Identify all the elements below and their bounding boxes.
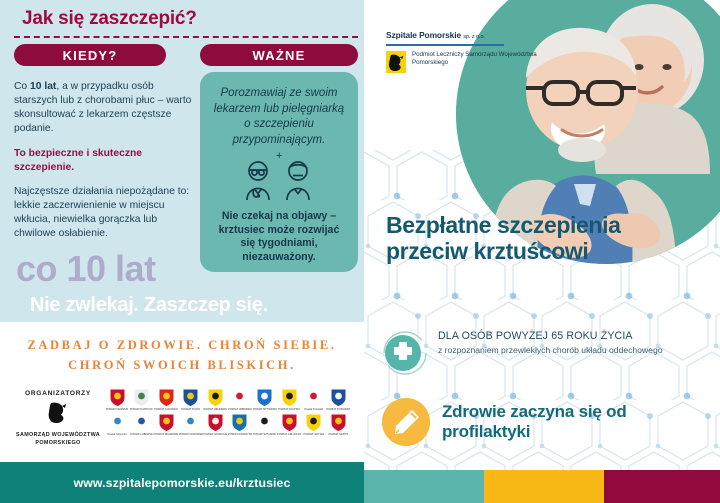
stripe-teal <box>364 470 484 503</box>
logo-caption: Podmiot Leczniczy Samorządu Województwa … <box>412 51 546 68</box>
crest-caption: POWIAT PUCKI <box>181 408 200 411</box>
crest-caption: POWIAT WEJHEROWSKI <box>203 408 227 411</box>
when-column: Co 10 lat, a w przypadku osób starszych … <box>14 80 192 252</box>
label-wazne: WAŻNE <box>200 44 358 66</box>
crest-shield-icon <box>158 388 175 407</box>
organizers-subtitle: SAMORZĄD WOJEWÓDZTWA POMORSKIEGO <box>12 432 104 447</box>
brochure-page: Jak się zaszczepić? KIEDY? WAŻNE Co 10 l… <box>0 0 720 503</box>
crest-caption: POWIAT NOWODWORSKI <box>179 433 203 436</box>
partner-crest: POWIAT STAROGARDZKI <box>204 413 226 436</box>
crest-caption: POWIAT STAROGARDZKI <box>203 433 227 436</box>
crest-caption: Powiat Sztumski <box>107 433 126 436</box>
crest-shield-icon <box>281 413 298 432</box>
prevention-slogan: Zdrowie zaczyna się od profilaktyki <box>442 402 712 442</box>
partner-crest: Powiat Sztumski <box>106 413 128 436</box>
warning-text: Nie czekaj na objawy – krztusiec może ro… <box>210 210 348 264</box>
crest-shield-icon <box>330 413 347 432</box>
stripe-yellow <box>484 470 604 503</box>
partner-crest: POWIAT SZTUMSKI <box>254 413 276 436</box>
prevention-slogan-row: Zdrowie zaczyna się od profilaktyki <box>382 398 712 446</box>
tagline-line-2: CHROŃ SWOICH BLISKICH. <box>0 358 364 373</box>
doctor-icon <box>247 162 269 200</box>
crest-shield-icon <box>330 388 347 407</box>
important-card: Porozmawiaj ze swoim lekarzem lub pielęg… <box>200 72 358 272</box>
stripe-maroon <box>604 470 720 503</box>
crest-shield-icon <box>207 413 224 432</box>
eligibility-detail: z rozpoznaniem przewlekłych chorób układ… <box>438 345 663 356</box>
medical-cross-icon <box>382 330 428 376</box>
organizers-title: ORGANIZATORZY <box>12 390 104 397</box>
crest-shield-icon <box>182 388 199 407</box>
website-url[interactable]: www.szpitalepomorskie.eu/krztusiec <box>74 476 291 490</box>
interval-paragraph: Co 10 lat, a w przypadku osób starszych … <box>14 80 192 136</box>
partner-crest: POWIAT CHOJNICKI <box>155 388 177 411</box>
organizers-block: ORGANIZATORZY SAMORZĄD WOJEWÓDZTWA POMOR… <box>12 390 104 447</box>
partner-crest: POWIAT GDYNIA <box>303 413 325 436</box>
call-to-action: Nie zwlekaj. Zaszczep się. <box>30 294 268 317</box>
crest-caption: Powiat Tczewski <box>304 408 323 411</box>
organizers-band: ZADBAJ O ZDROWIE. CHROŃ SIEBIE. CHROŃ SW… <box>0 322 364 462</box>
interval-watermark: co 10 lat <box>16 248 156 290</box>
partner-crest: POWIAT CZŁUCHOWSKI <box>278 413 300 436</box>
crest-caption: POWIAT KARTUSKI <box>130 408 154 411</box>
partner-crest: POWIAT KOŚCIERSKI <box>327 388 349 411</box>
partner-crest: POWIAT PUCKI <box>180 388 202 411</box>
crest-shield-icon <box>305 388 322 407</box>
crest-caption: POWIAT KOŚCIERSKI <box>326 408 350 411</box>
label-kiedy: KIEDY? <box>14 44 166 66</box>
crest-caption: POWIAT LĘBORSKI <box>228 408 252 411</box>
eligibility-headline: DLA OSÓB POWYŻEJ 65 ROKU ŻYCIA <box>438 330 663 342</box>
crest-shield-icon <box>109 388 126 407</box>
pomeranian-griffin-icon <box>45 400 71 424</box>
partner-crest: POWIAT SOPOT <box>327 413 349 436</box>
crest-caption: POWIAT CZŁUCHOWSKI <box>277 433 301 436</box>
logo-divider <box>386 44 504 46</box>
crest-shield-icon <box>256 413 273 432</box>
crest-caption: POWIAT LUBORSKI <box>130 433 154 436</box>
crest-shield-icon <box>281 388 298 407</box>
partner-crests: POWIAT GDAŃSKIPOWIAT KARTUSKIPOWIAT CHOJ… <box>106 388 356 436</box>
eligibility-info: DLA OSÓB POWYŻEJ 65 ROKU ŻYCIA z rozpozn… <box>382 330 712 376</box>
crest-caption: POWIAT MALBORSKI <box>154 433 178 436</box>
partner-crest: POWIAT NOWODWORSKI <box>180 413 202 436</box>
partner-crest: POWIAT SŁUPSKI <box>278 388 300 411</box>
partner-crest: POWIAT KWIDZYŃSKI <box>229 413 251 436</box>
logo-title: Szpitale Pomorskie sp. z o.o. <box>386 30 546 40</box>
svg-text:+: + <box>276 151 282 162</box>
dashed-divider <box>14 36 358 38</box>
tagline-line-1: ZADBAJ O ZDROWIE. CHROŃ SIEBIE. <box>0 338 364 353</box>
partner-crest: POWIAT LUBORSKI <box>131 413 153 436</box>
page-title: Jak się zaszczepić? <box>22 8 197 30</box>
crest-caption: POWIAT BYTOWSKI <box>253 408 277 411</box>
crest-shield-icon <box>182 413 199 432</box>
left-panel: Jak się zaszczepić? KIEDY? WAŻNE Co 10 l… <box>0 0 364 503</box>
main-headline: Bezpłatne szczepienia przeciw krztuścowi <box>386 212 706 264</box>
crest-caption: POWIAT CHOJNICKI <box>154 408 178 411</box>
crest-shield-icon <box>158 413 175 432</box>
partner-crest: POWIAT WEJHEROWSKI <box>204 388 226 411</box>
crest-shield-icon <box>109 413 126 432</box>
crest-caption: POWIAT SOPOT <box>328 433 348 436</box>
crest-caption: POWIAT GDYNIA <box>303 433 324 436</box>
side-effects-paragraph: Najczęstsze działania niepożądane to: le… <box>14 185 192 241</box>
partner-crest: POWIAT KARTUSKI <box>131 388 153 411</box>
crest-caption: POWIAT SZTUMSKI <box>253 433 277 436</box>
doctor-nurse-icons: + <box>236 151 322 208</box>
crest-shield-icon <box>207 388 224 407</box>
partner-crest: POWIAT GDAŃSKI <box>106 388 128 411</box>
nurse-icon <box>287 162 309 200</box>
syringe-icon <box>382 398 430 446</box>
consult-advice: Porozmawiaj ze swoim lekarzem lub pielęg… <box>210 86 348 148</box>
website-bar[interactable]: www.szpitalepomorskie.eu/krztusiec <box>0 462 364 503</box>
pomerania-crest-icon <box>386 51 406 73</box>
crest-caption: POWIAT SŁUPSKI <box>278 408 300 411</box>
hospital-logo: Szpitale Pomorskie sp. z o.o. Podmiot Le… <box>386 30 546 73</box>
crest-caption: POWIAT GDAŃSKI <box>106 408 128 411</box>
partner-crest: POWIAT LĘBORSKI <box>229 388 251 411</box>
partner-crest: POWIAT BYTOWSKI <box>254 388 276 411</box>
partner-crest: Powiat Tczewski <box>303 388 325 411</box>
crest-shield-icon <box>133 388 150 407</box>
crest-caption: POWIAT KWIDZYŃSKI <box>228 433 252 436</box>
crest-shield-icon <box>305 413 322 432</box>
crest-shield-icon <box>133 413 150 432</box>
safety-emphasis: To bezpieczne i skuteczne szczepienie. <box>14 147 192 174</box>
crest-shield-icon <box>256 388 273 407</box>
crest-shield-icon <box>231 388 248 407</box>
partner-crest: POWIAT MALBORSKI <box>155 413 177 436</box>
crest-shield-icon <box>231 413 248 432</box>
right-panel: Szpitale Pomorskie sp. z o.o. Podmiot Le… <box>364 0 720 503</box>
